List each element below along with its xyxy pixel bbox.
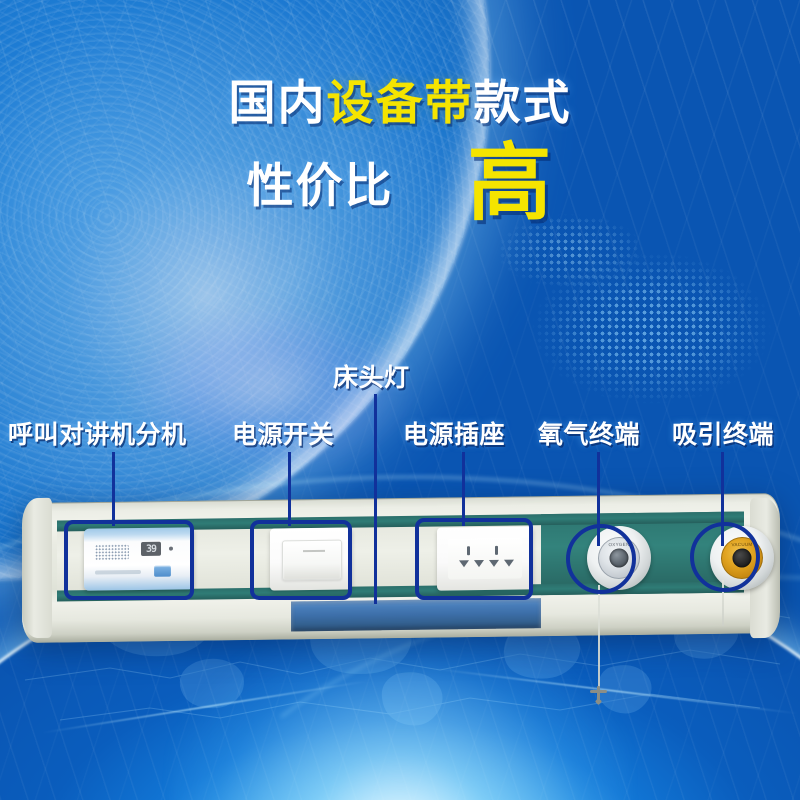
label-intercom: 呼叫对讲机分机 — [8, 415, 187, 451]
label-oxygen: 氧气终端 — [538, 415, 640, 451]
callout-labels: 呼叫对讲机分机 电源开关 床头灯 电源插座 氧气终端 吸引终端 — [0, 0, 800, 800]
label-power-switch: 电源开关 — [232, 415, 334, 451]
label-power-outlet: 电源插座 — [403, 415, 505, 451]
promo-banner: 国内设备带款式 性价比高 呼叫对讲机分机 电源开关 床头灯 电源插座 氧气终端 … — [0, 0, 800, 800]
label-suction: 吸引终端 — [672, 415, 774, 451]
label-bed-light: 床头灯 — [333, 358, 410, 394]
